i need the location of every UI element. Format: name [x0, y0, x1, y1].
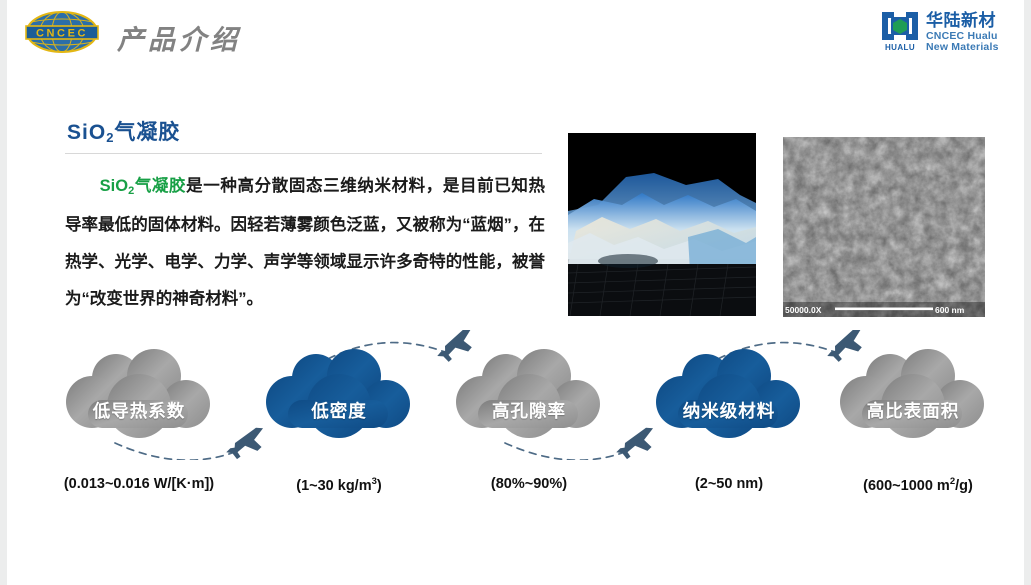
caption-5-tail: /g): [955, 478, 973, 494]
section-paragraph: SiO2气凝胶是一种高分散固态三维纳米材料，是目前已知热导率最低的固体材料。因轻…: [65, 168, 545, 318]
hualu-mark-label: HUALU: [885, 43, 915, 52]
section-divider: [65, 153, 542, 154]
section-heading-prefix: SiO: [67, 121, 106, 144]
caption-2: (1~30 kg/m3): [264, 476, 414, 494]
cncec-logo-text: CNCEC: [36, 28, 88, 40]
caption-1-text: (0.013~0.016 W/[K·m]): [64, 476, 214, 492]
caption-2-tail: ): [377, 478, 382, 494]
cloud-label-1: 低导热系数: [64, 398, 214, 423]
aerogel-photo: [568, 133, 756, 316]
sem-magnification-label: 50000.0X: [785, 305, 822, 315]
caption-3: (80%~90%): [454, 476, 604, 492]
caption-1: (0.013~0.016 W/[K·m]): [34, 476, 244, 492]
caption-4: (2~50 nm): [654, 476, 804, 492]
sem-scale-bar: 50000.0X 600 nm: [783, 302, 985, 317]
cloud-label-5: 高比表面积: [838, 398, 988, 423]
cloud-row: 低导热系数 低密度: [7, 330, 1024, 460]
section-heading: SiO2气凝胶: [67, 116, 180, 146]
caption-3-text: (80%~90%): [491, 476, 567, 492]
slide-product-introduction: CNCEC 产品介绍 HUALU 华陆新材 CNCEC Hualu New Ma…: [0, 0, 1031, 585]
sem-scale-label: 600 nm: [935, 305, 965, 315]
cloud-item-4[interactable]: 纳米级材料: [654, 348, 804, 444]
page-title: 产品介绍: [117, 18, 241, 57]
cloud-label-2: 低密度: [264, 398, 414, 423]
cloud-item-2[interactable]: 低密度: [264, 348, 414, 444]
caption-5-text: (600~1000 m: [863, 478, 950, 494]
paragraph-highlight-suffix: 气凝胶: [134, 177, 186, 195]
caption-4-text: (2~50 nm): [695, 476, 763, 492]
cloud-label-4: 纳米级材料: [654, 398, 804, 423]
cncec-hualu-logo: HUALU 华陆新材 CNCEC Hualu New Materials: [878, 8, 1018, 54]
cloud-label-3: 高孔隙率: [454, 398, 604, 423]
caption-2-text: (1~30 kg/m: [296, 478, 371, 494]
cloud-item-3[interactable]: 高孔隙率: [454, 348, 604, 444]
paragraph-highlight-subscript: 2: [128, 185, 134, 197]
section-heading-suffix: 气凝胶: [114, 121, 180, 144]
cloud-item-1[interactable]: 低导热系数: [64, 348, 214, 444]
section-heading-subscript: 2: [106, 130, 114, 145]
hualu-en-line2: New Materials: [926, 41, 999, 53]
hualu-mark-icon: HUALU: [882, 12, 918, 52]
caption-5: (600~1000 m2/g): [833, 476, 1003, 494]
aerogel-sem-photo: 50000.0X 600 nm: [783, 137, 985, 317]
paragraph-highlight-prefix: SiO: [100, 177, 128, 195]
paragraph-highlight: SiO2气凝胶: [100, 177, 187, 195]
cloud-item-5[interactable]: 高比表面积: [838, 348, 988, 444]
caption-row: (0.013~0.016 W/[K·m]) (1~30 kg/m3) (80%~…: [7, 476, 1024, 500]
cncec-globe-logo: CNCEC: [20, 10, 104, 54]
paragraph-body: 是一种高分散固态三维纳米材料，是目前已知热导率最低的固体材料。因轻若薄雾颜色泛蓝…: [65, 177, 545, 308]
hualu-cn-name: 华陆新材: [926, 10, 996, 30]
slide-header: CNCEC 产品介绍 HUALU 华陆新材 CNCEC Hualu New Ma…: [7, 0, 1024, 62]
